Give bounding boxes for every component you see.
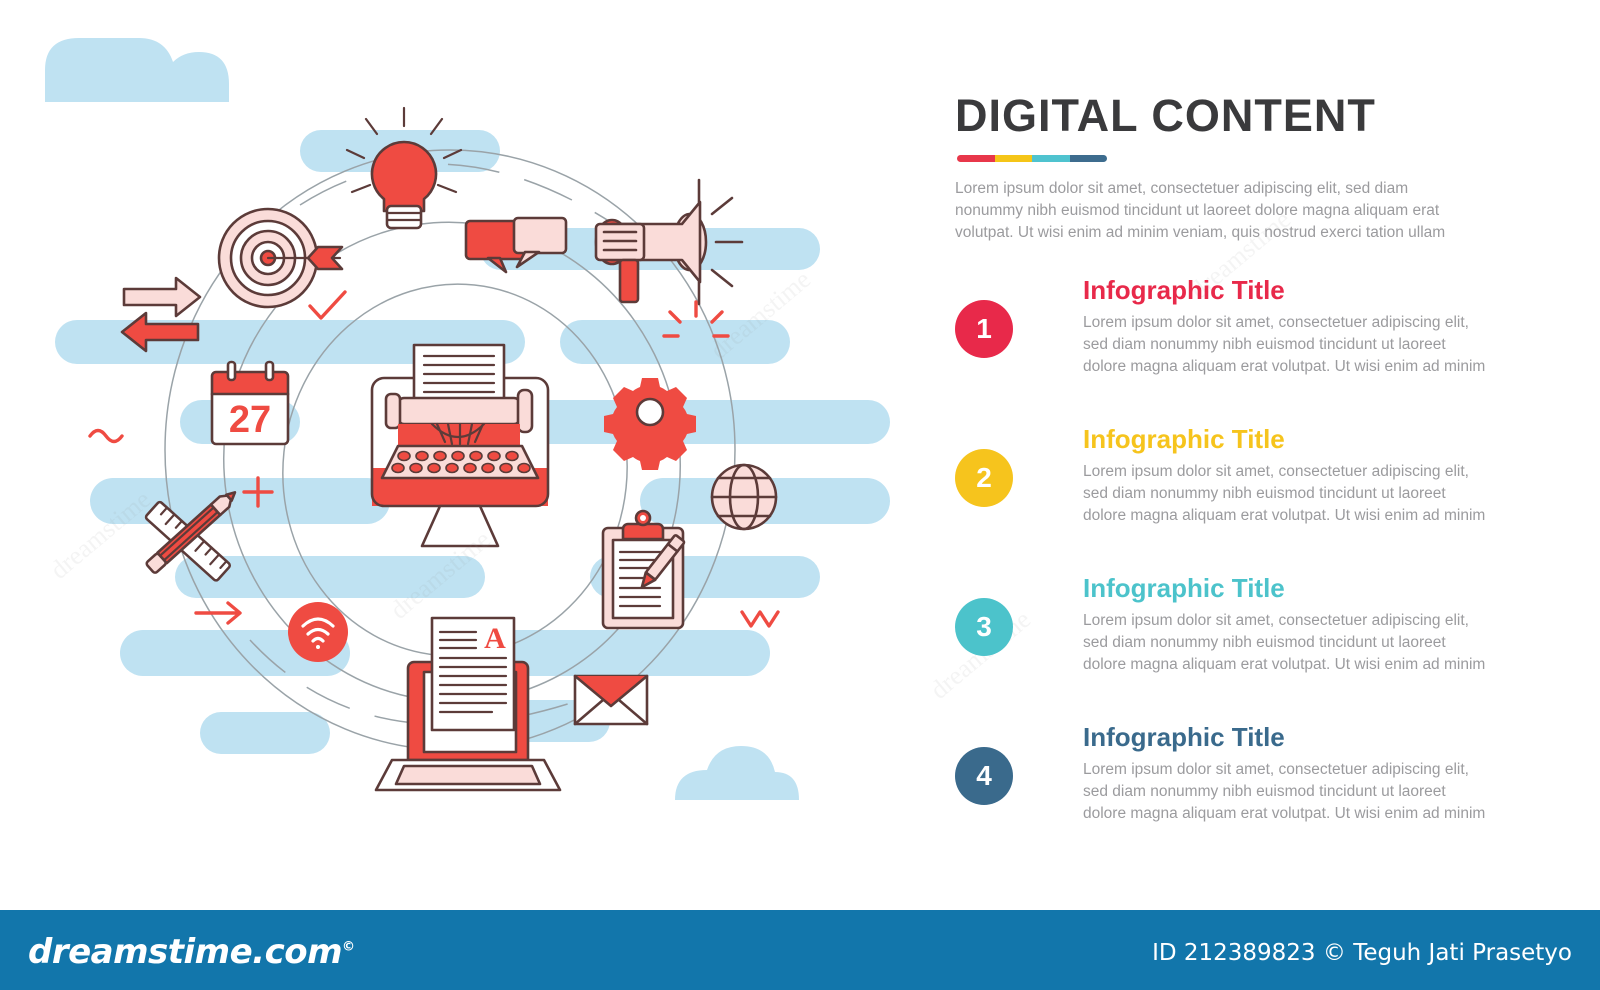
item-body: Lorem ipsum dolor sit amet, consectetuer… xyxy=(1083,312,1493,378)
image-id-credit: ID 212389823 © Teguh Jati Prasetyo xyxy=(1152,940,1572,966)
accent-segment-1 xyxy=(957,155,995,162)
footer-bar: dreamstime.com© ID 212389823 © Teguh Jat… xyxy=(0,910,1600,990)
list-item[interactable]: 2 Infographic Title Lorem ipsum dolor si… xyxy=(955,425,1455,549)
item-title: Infographic Title xyxy=(1083,574,1455,604)
typewriter-monitor-icon xyxy=(372,345,548,546)
document-letter: A xyxy=(484,622,506,655)
item-body: Lorem ipsum dolor sit amet, consectetuer… xyxy=(1083,759,1493,825)
globe-icon xyxy=(712,465,776,529)
check-mark-icon xyxy=(310,292,345,318)
dreamstime-logo-text: dreamstime.com xyxy=(28,932,342,972)
item-number-badge: 4 xyxy=(955,747,1013,805)
calendar-icon: 27 xyxy=(212,362,288,444)
accent-segment-4 xyxy=(1070,155,1108,162)
item-number-badge: 3 xyxy=(955,598,1013,656)
copyright-mark: © xyxy=(342,940,355,955)
item-number-badge: 1 xyxy=(955,300,1013,358)
dreamstime-logo[interactable]: dreamstime.com© xyxy=(28,932,355,972)
clipboard-pencil-icon xyxy=(603,511,685,628)
accent-color-bar xyxy=(957,155,1107,162)
infographic-canvas: .ln{fill:none;stroke:#5c3b39;stroke-widt… xyxy=(0,0,1600,990)
intro-paragraph: Lorem ipsum dolor sit amet, consectetuer… xyxy=(955,178,1450,244)
gear-icon xyxy=(604,378,696,470)
infographic-item-list: 1 Infographic Title Lorem ipsum dolor si… xyxy=(955,276,1455,847)
page-title: DIGITAL CONTENT xyxy=(955,92,1455,139)
megaphone-icon xyxy=(596,180,742,304)
list-item[interactable]: 4 Infographic Title Lorem ipsum dolor si… xyxy=(955,723,1455,847)
item-body: Lorem ipsum dolor sit amet, consectetuer… xyxy=(1083,610,1493,676)
arrow-right-icon xyxy=(196,603,240,623)
calendar-day-number: 27 xyxy=(229,399,271,441)
item-number-badge: 2 xyxy=(955,449,1013,507)
illustration-panel: .ln{fill:none;stroke:#5c3b39;stroke-widt… xyxy=(0,0,930,880)
tilde-icon xyxy=(90,431,122,442)
list-item[interactable]: 1 Infographic Title Lorem ipsum dolor si… xyxy=(955,276,1455,400)
accent-segment-3 xyxy=(1032,155,1070,162)
target-dartboard-icon xyxy=(219,209,342,307)
item-title: Infographic Title xyxy=(1083,425,1455,455)
list-item[interactable]: 3 Infographic Title Lorem ipsum dolor si… xyxy=(955,574,1455,698)
item-title: Infographic Title xyxy=(1083,723,1455,753)
item-body: Lorem ipsum dolor sit amet, consectetuer… xyxy=(1083,461,1493,527)
item-title: Infographic Title xyxy=(1083,276,1455,306)
wifi-badge-icon xyxy=(288,602,348,662)
envelope-icon xyxy=(575,676,647,724)
content-panel: DIGITAL CONTENT Lorem ipsum dolor sit am… xyxy=(955,92,1455,872)
accent-segment-2 xyxy=(995,155,1033,162)
zigzag-icon xyxy=(742,612,778,626)
arrow-exchange-icon xyxy=(122,278,200,351)
